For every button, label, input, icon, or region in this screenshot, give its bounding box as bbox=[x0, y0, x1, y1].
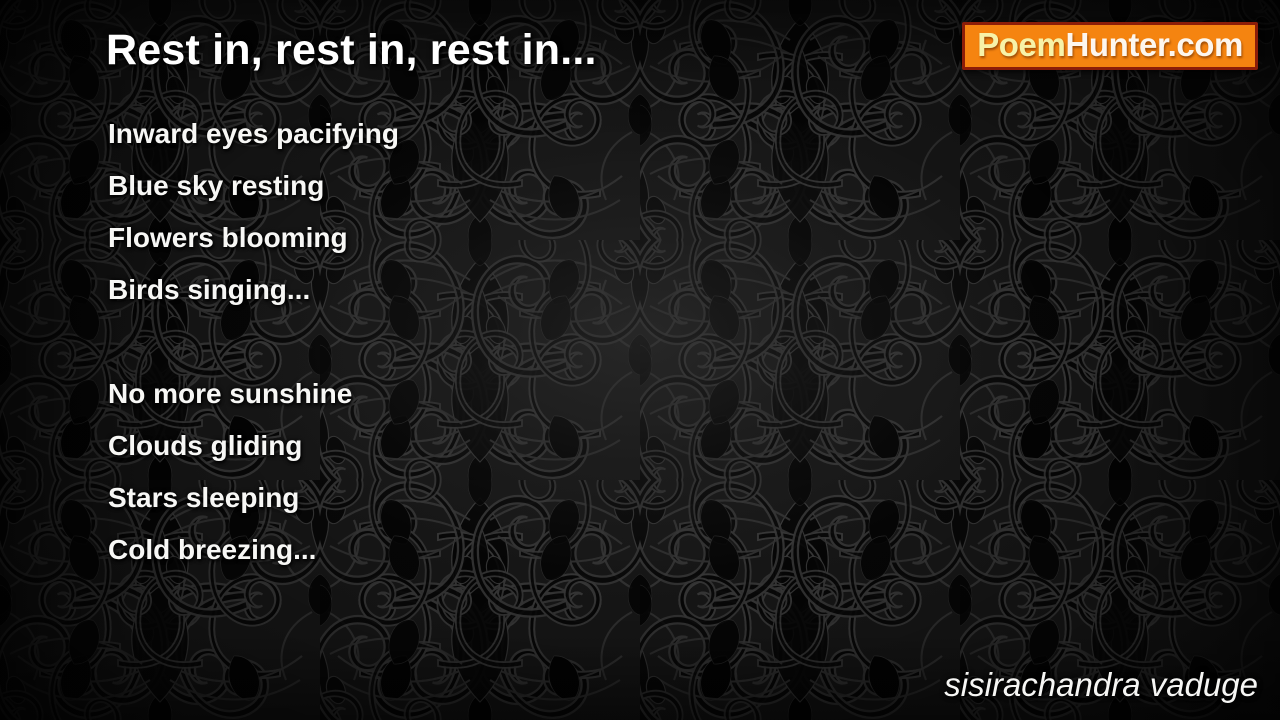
poem-line: Inward eyes pacifying bbox=[108, 108, 828, 160]
logo-text-hunter: Hunter.com bbox=[1065, 26, 1243, 63]
poemhunter-logo[interactable]: PoemHunter.com bbox=[962, 22, 1258, 70]
poem-line: Flowers blooming bbox=[108, 212, 828, 264]
poem-line: No more sunshine bbox=[108, 368, 828, 420]
poem-line: Stars sleeping bbox=[108, 472, 828, 524]
poem-text-body: Inward eyes pacifying Blue sky resting F… bbox=[108, 108, 828, 576]
poem-line: Clouds gliding bbox=[108, 420, 828, 472]
poem-card: Rest in, rest in, rest in... Inward eyes… bbox=[0, 0, 1280, 720]
poem-author-name[interactable]: sisirachandra vaduge bbox=[944, 666, 1258, 704]
page-title: Rest in, rest in, rest in... bbox=[106, 26, 597, 75]
poem-stanza: Inward eyes pacifying Blue sky resting F… bbox=[108, 108, 828, 316]
poem-line: Blue sky resting bbox=[108, 160, 828, 212]
poem-stanza: No more sunshine Clouds gliding Stars sl… bbox=[108, 368, 828, 576]
poem-line: Birds singing... bbox=[108, 264, 828, 316]
poem-line: Cold breezing... bbox=[108, 524, 828, 576]
logo-text-poem: Poem bbox=[977, 26, 1065, 63]
